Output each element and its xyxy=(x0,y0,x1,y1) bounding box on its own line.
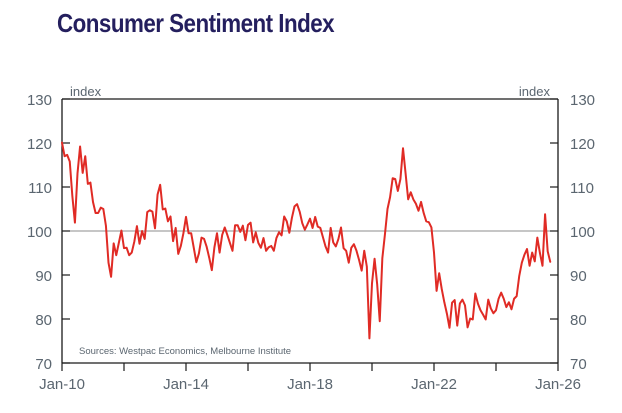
y-axis-left-labels: 130 120 110 100 90 80 70 xyxy=(27,92,52,373)
ytick-label-80: 80 xyxy=(35,312,52,329)
ytick-label-right-90: 90 xyxy=(570,268,587,285)
y-axis-right-labels: 130 120 110 100 90 80 70 xyxy=(570,92,595,373)
ytick-label-right-80: 80 xyxy=(570,312,587,329)
ytick-label-90: 90 xyxy=(35,268,52,285)
xtick-label-jan-26: Jan-26 xyxy=(535,376,581,393)
series-line-consumer-sentiment xyxy=(62,143,550,339)
xtick-label-jan-18: Jan-18 xyxy=(287,376,333,393)
ytick-label-100: 100 xyxy=(27,224,52,241)
x-axis-ticks xyxy=(62,363,558,371)
source-note: Sources: Westpac Economics, Melbourne In… xyxy=(79,346,291,357)
left-axis-unit-label: index xyxy=(70,84,102,99)
xtick-label-jan-10: Jan-10 xyxy=(39,376,85,393)
ytick-label-right-70: 70 xyxy=(570,356,587,373)
ytick-label-right-100: 100 xyxy=(570,224,595,241)
x-axis-labels: Jan-10 Jan-14 Jan-18 Jan-22 Jan-26 xyxy=(39,376,581,393)
chart-plot: 130 120 110 100 90 80 70 130 120 110 100… xyxy=(0,0,622,413)
xtick-label-jan-14: Jan-14 xyxy=(163,376,209,393)
ytick-label-130: 130 xyxy=(27,92,52,109)
ytick-label-right-110: 110 xyxy=(570,180,594,197)
right-axis-unit-label: index xyxy=(519,84,551,99)
xtick-label-jan-22: Jan-22 xyxy=(411,376,457,393)
ytick-label-110: 110 xyxy=(28,180,52,197)
ytick-label-right-130: 130 xyxy=(570,92,595,109)
chart-container: Consumer Sentiment Index xyxy=(0,0,622,413)
ytick-label-right-120: 120 xyxy=(570,136,595,153)
ytick-label-120: 120 xyxy=(27,136,52,153)
ytick-label-70: 70 xyxy=(35,356,52,373)
